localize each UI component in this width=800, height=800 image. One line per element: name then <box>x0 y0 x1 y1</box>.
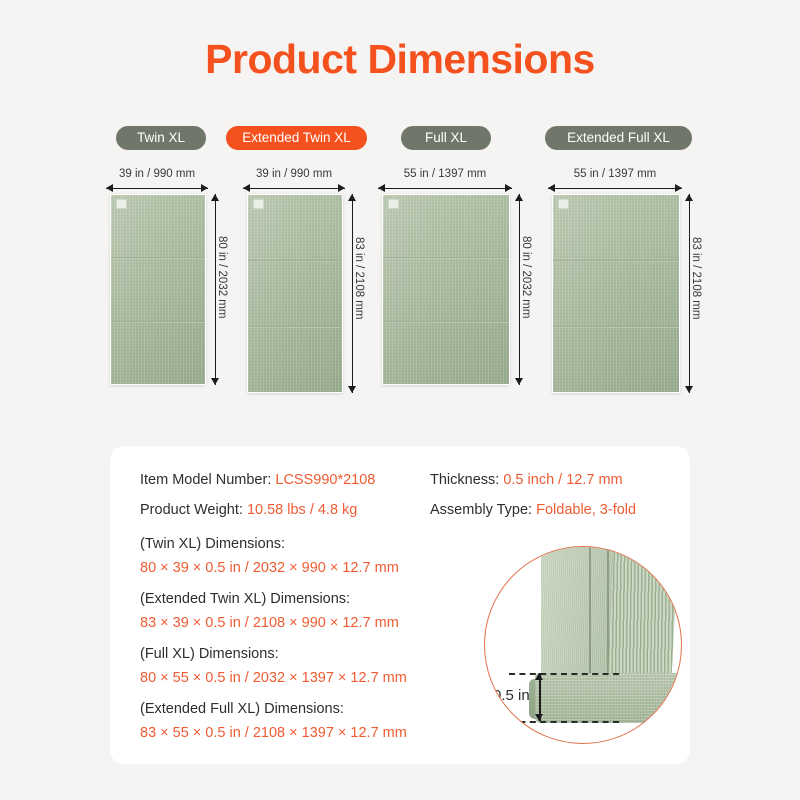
dimension-value-extended-twin-xl: 83 × 39 × 0.5 in / 2108 × 990 × 12.7 mm <box>140 615 399 631</box>
spec-model-number-value: LCSS990*2108 <box>275 472 375 488</box>
width-label-twin-xl: 39 in / 990 mm <box>106 168 208 180</box>
fold-line <box>553 260 679 262</box>
product-tag-icon <box>253 199 264 209</box>
spec-thickness-value: 0.5 inch / 12.7 mm <box>503 472 622 488</box>
dimension-caption-extended-full-xl: (Extended Full XL) Dimensions: <box>140 701 344 717</box>
product-tag-icon <box>388 199 399 209</box>
dimension-caption-twin-xl: (Twin XL) Dimensions: <box>140 536 285 552</box>
mattress-full-xl <box>382 194 510 385</box>
dimension-value-twin-xl: 80 × 39 × 0.5 in / 2032 × 990 × 12.7 mm <box>140 560 399 576</box>
width-arrow-full-xl <box>378 184 512 193</box>
fold-line <box>111 257 205 259</box>
dimension-value-extended-full-xl: 83 × 55 × 0.5 in / 2108 × 1397 × 12.7 mm <box>140 725 407 741</box>
width-arrow-twin-xl <box>106 184 208 193</box>
thickness-guide-top <box>509 673 619 675</box>
fold-line <box>248 260 342 262</box>
spec-assembly-type-label: Assembly Type: <box>430 502 532 518</box>
mattress-edge-texture <box>608 551 678 673</box>
dimension-value-full-xl: 80 × 55 × 0.5 in / 2032 × 1397 × 12.7 mm <box>140 670 407 686</box>
width-label-full-xl: 55 in / 1397 mm <box>378 168 512 180</box>
dimension-caption-full-xl: (Full XL) Dimensions: <box>140 646 279 662</box>
mattress-edge-band <box>535 673 682 723</box>
spec-model-number-label: Item Model Number: <box>140 472 271 488</box>
product-tag-icon <box>558 199 569 209</box>
thickness-callout-label: 0.5 in <box>493 687 530 704</box>
dimension-caption-extended-twin-xl: (Extended Twin XL) Dimensions: <box>140 591 350 607</box>
spec-assembly-type-value: Foldable, 3-fold <box>536 502 636 518</box>
spec-product-weight-label: Product Weight: <box>140 502 243 518</box>
fold-line <box>111 321 205 323</box>
product-tag-icon <box>116 199 127 209</box>
mattress-extended-full-xl <box>552 194 680 393</box>
height-label-extended-twin-xl: 83 in / 2108 mm <box>353 237 365 319</box>
width-label-extended-full-xl: 55 in / 1397 mm <box>548 168 682 180</box>
thickness-guide-bottom <box>509 721 619 723</box>
mattress-twin-xl <box>110 194 206 385</box>
spec-product-weight: Product Weight: 10.58 lbs / 4.8 kg <box>140 502 357 518</box>
thickness-detail-inset: 0.5 in <box>484 546 682 744</box>
dimension-diagram: 39 in / 990 mm 80 in / 2032 mm 39 in / 9… <box>0 0 800 430</box>
mattress-edge-seam <box>589 546 591 673</box>
fold-line <box>383 321 509 323</box>
mattress-extended-twin-xl <box>247 194 343 393</box>
height-label-extended-full-xl: 83 in / 2108 mm <box>690 237 702 319</box>
thickness-arrow <box>535 673 544 721</box>
spec-model-number: Item Model Number: LCSS990*2108 <box>140 472 375 488</box>
width-label-extended-twin-xl: 39 in / 990 mm <box>243 168 345 180</box>
fold-line <box>248 326 342 328</box>
spec-thickness-label: Thickness: <box>430 472 499 488</box>
spec-thickness: Thickness: 0.5 inch / 12.7 mm <box>430 472 623 488</box>
fold-line <box>553 326 679 328</box>
spec-assembly-type: Assembly Type: Foldable, 3-fold <box>430 502 636 518</box>
spec-product-weight-value: 10.58 lbs / 4.8 kg <box>247 502 357 518</box>
width-arrow-extended-twin-xl <box>243 184 345 193</box>
height-label-twin-xl: 80 in / 2032 mm <box>216 236 228 318</box>
fold-line <box>383 257 509 259</box>
height-label-full-xl: 80 in / 2032 mm <box>520 236 532 318</box>
width-arrow-extended-full-xl <box>548 184 682 193</box>
